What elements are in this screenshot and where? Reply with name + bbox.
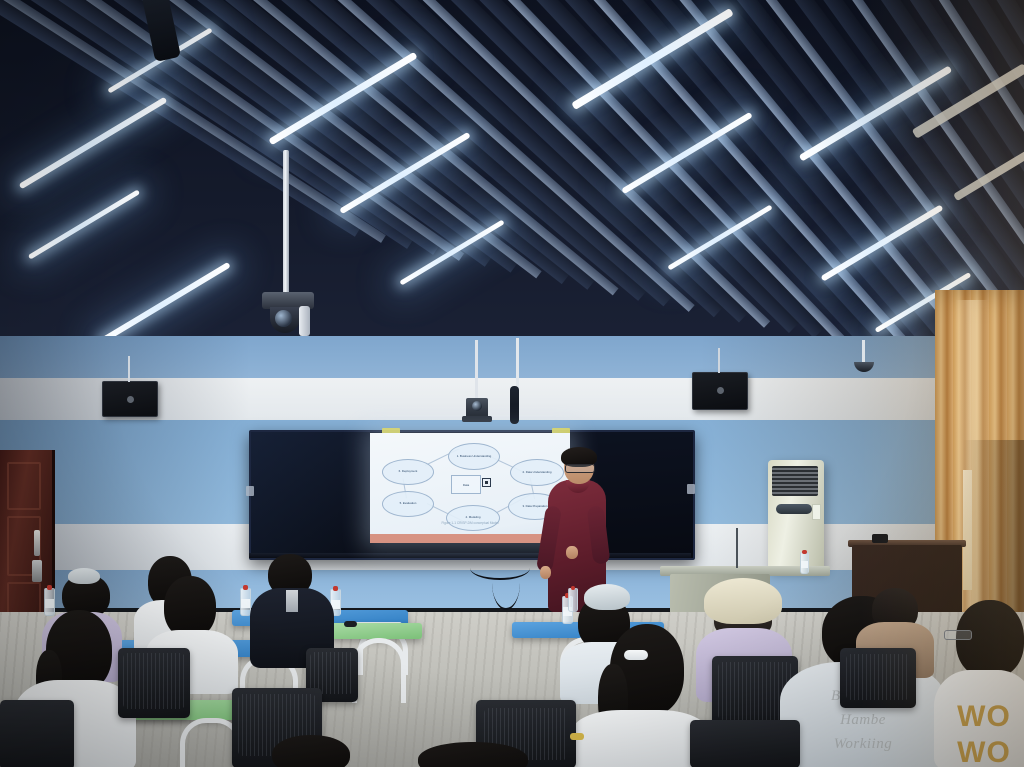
tshirt-script-line2: Hambe bbox=[780, 712, 946, 729]
bucket-hat bbox=[704, 578, 782, 624]
bottle-cap bbox=[243, 585, 248, 590]
ac-grille-icon bbox=[772, 466, 818, 496]
glasses-icon bbox=[565, 464, 595, 473]
air-conditioner[interactable] bbox=[768, 460, 824, 570]
desk-leg-green-midleft bbox=[352, 638, 406, 703]
ceiling-ptz-camera-icon bbox=[262, 292, 314, 336]
speaker-cone-left bbox=[127, 396, 134, 403]
camera-lens-icon bbox=[472, 401, 482, 411]
student-baseball-cap bbox=[584, 584, 630, 610]
microphone-icon bbox=[510, 386, 519, 424]
board-reflection bbox=[251, 432, 386, 558]
suit-shirt-collar bbox=[286, 590, 298, 612]
student-body-frontcenter bbox=[572, 710, 708, 767]
door-panel-upper bbox=[7, 462, 41, 510]
chair-mesh bbox=[123, 653, 185, 709]
bottle-label bbox=[45, 599, 54, 608]
cabinet-object bbox=[872, 534, 888, 543]
board-cable-2 bbox=[492, 556, 520, 610]
projected-slide: 6. Deployment 1. Business Understanding … bbox=[370, 433, 570, 543]
classroom-scene: 6. Deployment 1. Business Understanding … bbox=[0, 0, 1024, 767]
speaker-cone-right bbox=[717, 387, 724, 394]
bottle-label bbox=[241, 599, 250, 608]
ac-sticker-label bbox=[812, 504, 821, 520]
tshirt-script-line3: Workiing bbox=[780, 736, 946, 753]
water-bottle-5 bbox=[568, 588, 578, 612]
wall-speaker-right bbox=[692, 372, 748, 410]
camera-lens-icon bbox=[275, 310, 292, 327]
door-handle[interactable] bbox=[34, 530, 40, 556]
presenter-hand-left bbox=[540, 566, 551, 579]
ac-control-panel[interactable] bbox=[776, 504, 812, 514]
slide-data-square-icon bbox=[482, 478, 491, 487]
ceiling-light-tube bbox=[99, 262, 231, 344]
chair-right-1[interactable] bbox=[840, 648, 916, 708]
wall-camera-pole bbox=[475, 340, 478, 402]
student-cap-farleft bbox=[68, 568, 100, 584]
slide-node-deployment: 6. Deployment bbox=[382, 459, 434, 485]
camera-mount-arm bbox=[299, 306, 310, 336]
hair-scrunchie bbox=[624, 650, 648, 660]
slide-center-box: Data bbox=[451, 475, 481, 494]
presenter-hand-right bbox=[566, 546, 578, 559]
slide-node-evaluation: 5. Evaluation bbox=[382, 491, 434, 517]
board-tray bbox=[249, 553, 691, 558]
glasses-icon-student bbox=[944, 630, 972, 640]
microphone-pole bbox=[516, 338, 519, 390]
bottle-label bbox=[801, 561, 808, 568]
bottle-cap bbox=[571, 586, 575, 590]
phone-on-desk bbox=[344, 621, 357, 627]
board-side-marker-left bbox=[246, 486, 254, 496]
student-head-bottom-left bbox=[272, 735, 350, 767]
chair-front-far-right[interactable] bbox=[690, 720, 800, 767]
podium-microphone bbox=[736, 528, 738, 568]
water-bottle-podium bbox=[800, 552, 809, 574]
ceiling-light-tube bbox=[28, 189, 140, 259]
bottle-cap bbox=[47, 585, 52, 590]
slide-data-square-inner bbox=[485, 481, 488, 484]
wall-camera-base bbox=[462, 416, 492, 422]
student-head-bottom-center bbox=[418, 742, 528, 767]
slide-node-business-understanding: 1. Business Understanding bbox=[448, 443, 500, 470]
slide-caption: Figure 1-1 CRISP-DM conceptual Model bbox=[370, 521, 570, 525]
item-on-desk-yellow bbox=[570, 733, 584, 740]
tshirt-gold-line1: WO bbox=[934, 700, 1024, 734]
slide-node-modeling: 4. Modeling bbox=[446, 505, 500, 531]
tshirt-gold-line2: WO bbox=[934, 736, 1024, 767]
chair-mesh bbox=[846, 654, 910, 700]
student-body-goldshirt: WO WO bbox=[934, 670, 1024, 767]
door-lock-plate bbox=[32, 560, 42, 582]
ceiling-light-tube bbox=[19, 97, 168, 190]
bottle-cap bbox=[802, 550, 807, 554]
water-bottle-1 bbox=[44, 588, 55, 616]
student-head-back2 bbox=[164, 576, 216, 638]
wall-speaker-left bbox=[102, 381, 158, 417]
speaker-mount-right bbox=[718, 348, 720, 373]
chair-frontleft[interactable] bbox=[118, 648, 190, 718]
chair-frontleft-2[interactable] bbox=[0, 700, 74, 767]
speaker-mount-left bbox=[128, 356, 130, 382]
ceiling bbox=[0, 0, 1024, 360]
ceiling-camera-pole bbox=[283, 150, 289, 300]
board-side-marker-right bbox=[687, 484, 695, 494]
bottle-cap bbox=[333, 586, 338, 591]
